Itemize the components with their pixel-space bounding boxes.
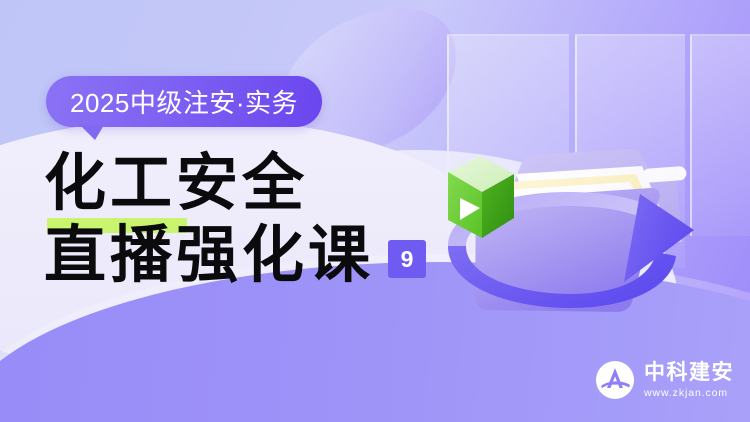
headline-row-2: 直播强化课 9	[44, 220, 426, 292]
headline-row-1: 化工安全	[44, 148, 426, 220]
episode-badge: 9	[388, 240, 426, 278]
brand-logo-text: 中科建安 www.zkjan.com	[644, 362, 734, 399]
headline-block: 化工安全 直播强化课 9	[44, 148, 426, 292]
brand-logo[interactable]: 中科建安 www.zkjan.com	[595, 360, 734, 400]
folder-arrow-illustration	[418, 96, 718, 336]
course-tag-tail	[80, 125, 104, 140]
brand-logo-icon	[595, 360, 635, 400]
course-tag-label: 2025中级注安·实务	[70, 83, 298, 120]
headline-line-1: 化工安全	[44, 148, 308, 220]
headline-line-2: 直播强化课	[44, 220, 374, 292]
course-tag[interactable]: 2025中级注安·实务	[46, 76, 322, 127]
hero-illustration	[418, 96, 718, 336]
brand-url: www.zkjan.com	[644, 388, 734, 399]
course-banner: 2025中级注安·实务 化工安全 直播强化课 9 中科建安 www.zkjan.…	[0, 0, 750, 422]
course-tag-pill[interactable]: 2025中级注安·实务	[46, 76, 322, 127]
folder-tab-slot	[642, 166, 687, 183]
brand-name: 中科建安	[644, 362, 734, 383]
